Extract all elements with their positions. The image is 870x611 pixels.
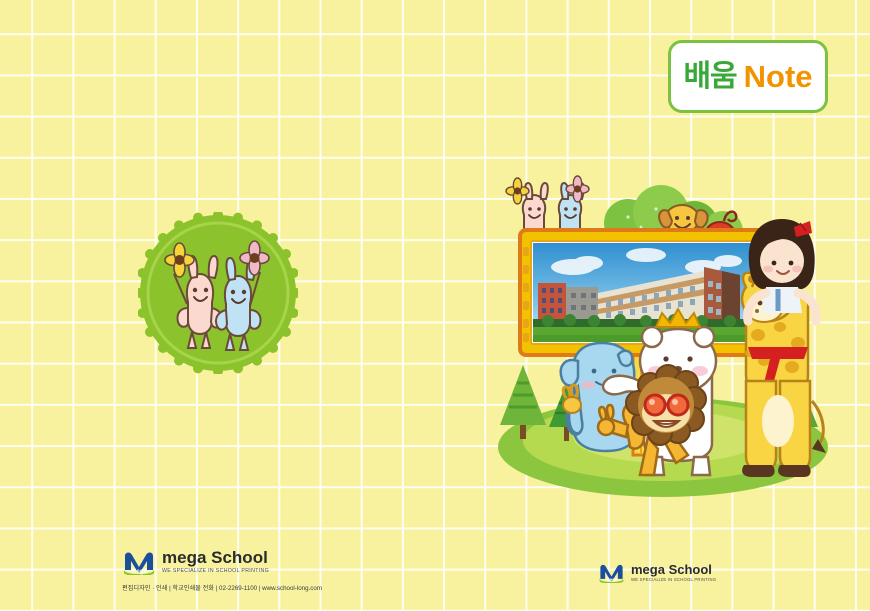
mega-school-logo-left: mega mega School WE SPECIALIZE IN SCHOOL…	[122, 549, 322, 575]
logo-block-right: mega mega School WE SPECIALIZE IN SCHOOL…	[598, 562, 728, 590]
school-photo	[533, 243, 752, 343]
school-billboard-illustration	[478, 175, 848, 505]
logo-brand-right: mega School	[631, 563, 716, 576]
logo-tagline-right: WE SPECIALIZE IN SCHOOL PRINTING	[631, 578, 716, 582]
mega-school-mark-icon: mega	[122, 549, 156, 575]
svg-text:mega: mega	[605, 578, 618, 583]
pink-bunny-top	[506, 178, 548, 231]
company-fineprint: 편집디자인 · 인쇄 | 학교인쇄물 전화 | 02-2269-1100 | w…	[122, 586, 322, 592]
illustration-graphic	[478, 175, 848, 505]
notebook-cover-page: 배움 Note	[0, 0, 870, 611]
title-english: Note	[744, 61, 813, 92]
mega-school-logo-right: mega mega School WE SPECIALIZE IN SCHOOL…	[598, 562, 728, 583]
svg-text:mega: mega	[131, 569, 147, 575]
blue-bunny-top	[559, 176, 589, 231]
scallop-ring	[138, 212, 298, 374]
badge-graphic	[138, 212, 298, 374]
title-korean: 배움	[683, 62, 736, 92]
title-box: 배움 Note	[668, 40, 828, 113]
badge-bunnies	[138, 212, 298, 374]
mega-school-mark-icon: mega	[598, 562, 625, 583]
logo-block-left: mega mega School WE SPECIALIZE IN SCHOOL…	[122, 549, 322, 591]
logo-brand-left: mega School	[162, 549, 269, 566]
logo-tagline-left: WE SPECIALIZE IN SCHOOL PRINTING	[162, 569, 269, 574]
